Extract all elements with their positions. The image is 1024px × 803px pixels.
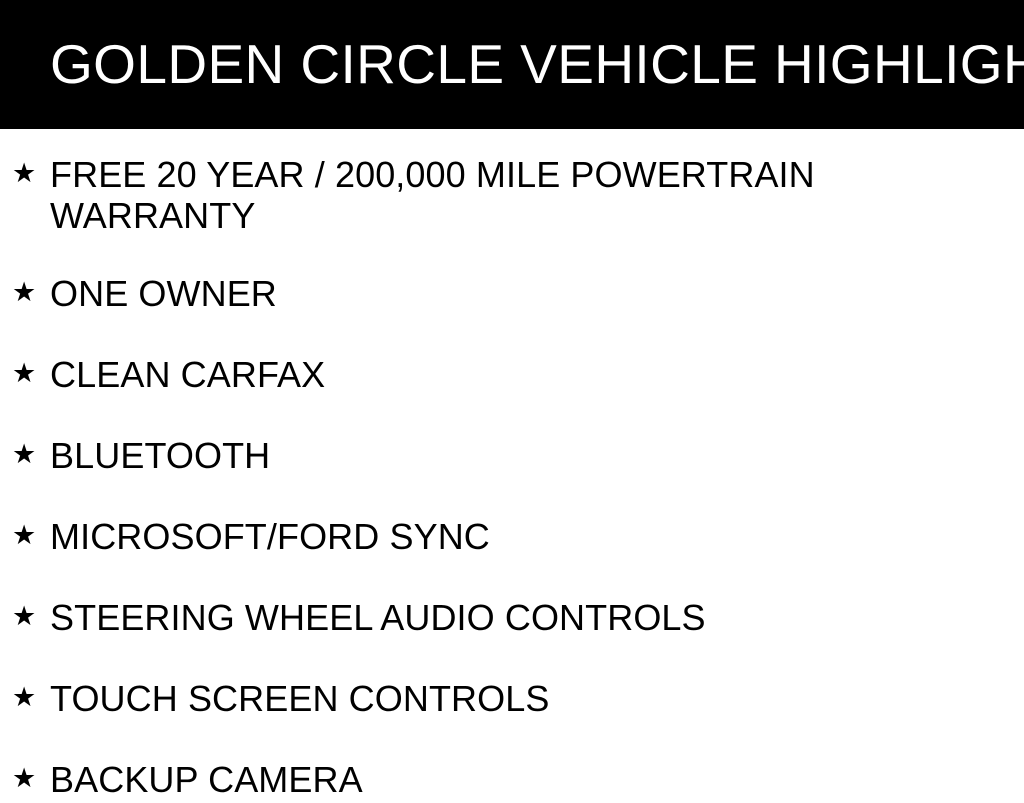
list-item: ★ CLEAN CARFAX xyxy=(0,350,1024,398)
list-item: ★ FREE 20 YEAR / 200,000 MILE POWERTRAIN… xyxy=(0,150,1024,236)
list-item: ★ STEERING WHEEL AUDIO CONTROLS xyxy=(0,593,1024,641)
list-item: ★ BACKUP CAMERA xyxy=(0,755,1024,803)
vehicle-highlights-slide: GOLDEN CIRCLE VEHICLE HIGHLIGHTS ★ FREE … xyxy=(0,0,1024,768)
list-item: ★ BLUETOOTH xyxy=(0,431,1024,479)
list-item: ★ ONE OWNER xyxy=(0,269,1024,317)
star-icon: ★ xyxy=(12,431,50,479)
star-icon: ★ xyxy=(12,512,50,560)
list-item: ★ MICROSOFT/FORD SYNC xyxy=(0,512,1024,560)
star-icon: ★ xyxy=(12,674,50,722)
star-icon: ★ xyxy=(12,269,50,317)
highlight-label: BACKUP CAMERA xyxy=(50,755,880,800)
page-title: GOLDEN CIRCLE VEHICLE HIGHLIGHTS xyxy=(50,37,1024,92)
star-icon: ★ xyxy=(12,755,50,803)
star-icon: ★ xyxy=(12,593,50,641)
highlight-label: ONE OWNER xyxy=(50,269,880,314)
title-bar: GOLDEN CIRCLE VEHICLE HIGHLIGHTS xyxy=(0,0,1024,129)
star-icon: ★ xyxy=(12,350,50,398)
highlight-label: TOUCH SCREEN CONTROLS xyxy=(50,674,880,719)
list-item: ★ TOUCH SCREEN CONTROLS xyxy=(0,674,1024,722)
highlight-label: FREE 20 YEAR / 200,000 MILE POWERTRAIN W… xyxy=(50,150,880,236)
highlight-label: BLUETOOTH xyxy=(50,431,880,476)
highlight-label: MICROSOFT/FORD SYNC xyxy=(50,512,880,557)
highlight-label: STEERING WHEEL AUDIO CONTROLS xyxy=(50,593,880,638)
highlights-list: ★ FREE 20 YEAR / 200,000 MILE POWERTRAIN… xyxy=(0,129,1024,803)
highlight-label: CLEAN CARFAX xyxy=(50,350,880,395)
star-icon: ★ xyxy=(12,150,50,198)
